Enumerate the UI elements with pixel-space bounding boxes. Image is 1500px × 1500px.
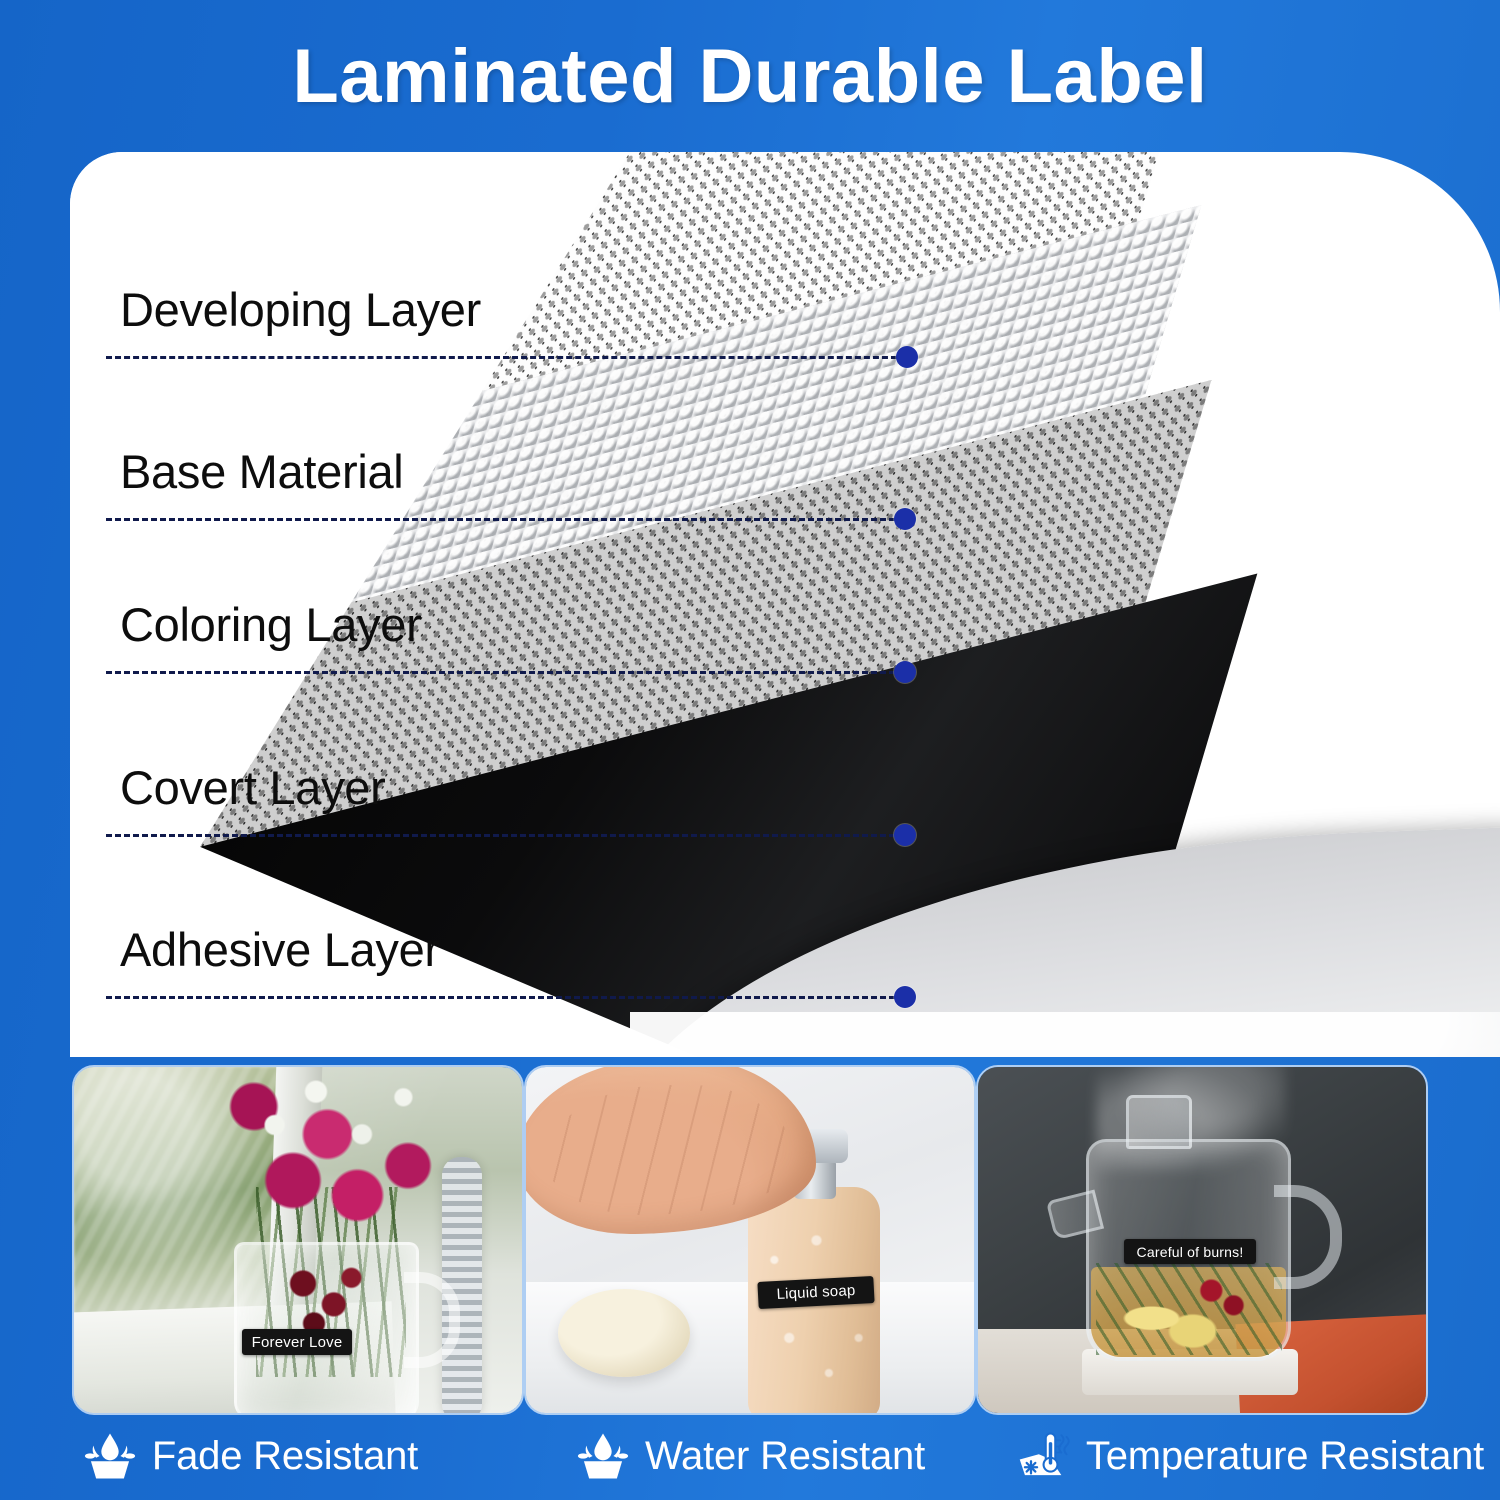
product-label-careful-of-burns: Careful of burns! xyxy=(1124,1239,1256,1264)
pink-chrysanthemum-flowers xyxy=(224,1065,454,1236)
water-droplet-splash-icon xyxy=(575,1430,631,1482)
layer-label-coloring: Coloring Layer xyxy=(120,597,421,652)
leader-line-covert xyxy=(106,834,904,837)
water-droplet-splash-icon xyxy=(82,1430,138,1482)
feature-row: Fade Resistant Water Resistant xyxy=(0,1412,1500,1500)
photo-card-flowers-vase: Forever Love xyxy=(72,1065,524,1415)
layer-label-adhesive: Adhesive Layer xyxy=(120,922,440,977)
layer-diagram-card: Developing Layer Base Material Coloring … xyxy=(70,152,1500,1057)
photo-card-glass-teapot: Careful of burns! xyxy=(976,1065,1428,1415)
leader-dot-base xyxy=(894,508,916,530)
leader-dot-adhesive xyxy=(894,986,916,1008)
feature-label: Fade Resistant xyxy=(152,1434,418,1479)
leader-line-base xyxy=(106,518,904,521)
layer-label-base-material: Base Material xyxy=(120,444,403,499)
soap-bar xyxy=(558,1289,690,1377)
water-droplets-on-bottle xyxy=(752,1217,876,1412)
feature-temperature-resistant: Temperature Resistant xyxy=(1000,1412,1500,1500)
product-label-forever-love: Forever Love xyxy=(242,1329,352,1355)
feature-water-resistant: Water Resistant xyxy=(500,1412,1000,1500)
leader-dot-covert xyxy=(894,824,916,846)
lemon-slices-and-berries xyxy=(1096,1263,1282,1355)
leader-dot-coloring xyxy=(894,661,916,683)
leader-dot-developing xyxy=(896,346,918,368)
layer-label-covert: Covert Layer xyxy=(120,760,385,815)
photo-card-soap-dispenser: Liquid soap xyxy=(524,1065,976,1415)
teapot-lid xyxy=(1126,1095,1192,1149)
leader-line-developing xyxy=(106,356,906,359)
thermometer-snowflake-icon xyxy=(1016,1430,1072,1482)
feature-label: Temperature Resistant xyxy=(1086,1434,1484,1479)
leader-line-adhesive xyxy=(106,996,904,999)
hand-creases xyxy=(546,1085,796,1215)
layer-label-developing: Developing Layer xyxy=(120,282,481,337)
feature-label: Water Resistant xyxy=(645,1434,925,1479)
feature-fade-resistant: Fade Resistant xyxy=(0,1412,500,1500)
page-title: Laminated Durable Label xyxy=(292,33,1207,120)
leader-line-coloring xyxy=(106,671,904,674)
header-banner: Laminated Durable Label xyxy=(0,0,1500,152)
